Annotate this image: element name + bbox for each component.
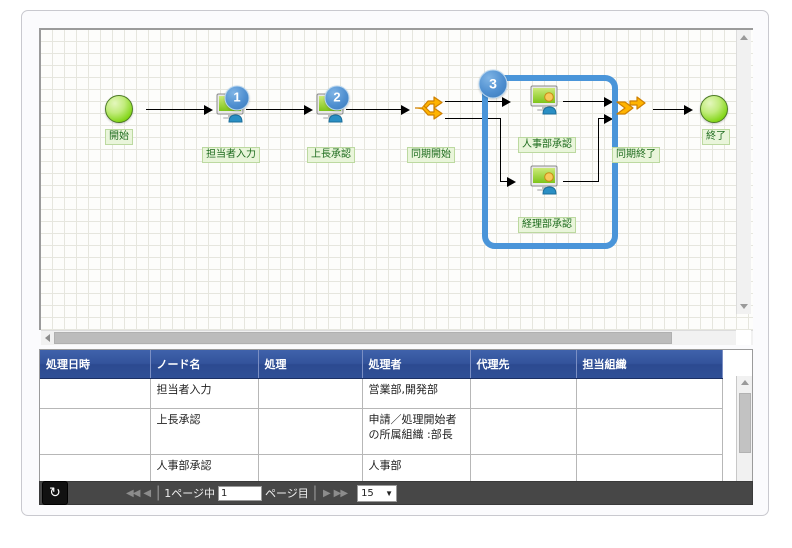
col-header-action[interactable]: 処理	[258, 350, 362, 379]
col-header-datetime[interactable]: 処理日時	[40, 350, 150, 379]
scroll-down-arrow-icon[interactable]	[740, 304, 748, 309]
cell-delegate	[470, 455, 576, 485]
arrowhead-fork	[401, 105, 410, 115]
node-start-label: 開始	[105, 129, 133, 145]
col-header-handler[interactable]: 処理者	[362, 350, 470, 379]
cell-node-name: 上長承認	[150, 409, 258, 455]
connector-start-to-step1	[146, 109, 204, 110]
table-header-row: 処理日時 ノード名 処理 処理者 代理先 担当組織	[40, 350, 722, 379]
node-sync-start-icon[interactable]	[413, 94, 445, 122]
connector-step2-to-fork	[346, 109, 401, 110]
pager-divider-right: |	[313, 484, 317, 502]
workflow-diagram-viewport[interactable]: 開始 1 担当者入力	[39, 28, 753, 330]
pager-divider-left: |	[156, 484, 160, 502]
cell-node-name: 人事部承認	[150, 455, 258, 485]
history-table: 処理日時 ノード名 処理 処理者 代理先 担当組織 担当者入力 営業部,開発部	[40, 350, 723, 485]
cell-org	[576, 455, 722, 485]
table-row[interactable]: 上長承認 申請／処理開始者の所属組織 :部長	[40, 409, 722, 455]
cell-handler: 営業部,開発部	[362, 379, 470, 409]
node-jinjibu-label: 人事部承認	[518, 137, 576, 153]
node-jouchou-badge: 2	[325, 86, 350, 111]
chevron-down-icon: ▼	[385, 489, 393, 498]
node-tantousha-badge: 1	[225, 86, 250, 111]
arrowhead-step1	[204, 105, 213, 115]
node-sync-end-icon[interactable]	[615, 94, 647, 122]
prev-page-icon[interactable]: ◀	[143, 488, 150, 499]
pager-suffix-text: ページ目	[265, 485, 309, 501]
cell-action	[258, 455, 362, 485]
sync-group-badge: 3	[479, 70, 508, 99]
cell-handler: 申請／処理開始者の所属組織 :部長	[362, 409, 470, 455]
cell-action	[258, 379, 362, 409]
arrowhead-step2	[304, 105, 313, 115]
page-number-input[interactable]	[218, 486, 262, 501]
pagination-toolbar: ↻ ◀◀ ◀ | 1 ページ中 ページ目 | ▶ ▶▶ 15 ▼	[39, 481, 753, 505]
refresh-icon[interactable]: ↻	[42, 481, 68, 505]
next-page-icon[interactable]: ▶	[323, 488, 330, 499]
node-end-icon[interactable]	[700, 95, 728, 123]
cell-delegate	[470, 379, 576, 409]
cell-datetime	[40, 379, 150, 409]
node-tantousha-label: 担当者入力	[202, 147, 260, 163]
cell-action	[258, 409, 362, 455]
col-header-node-name[interactable]: ノード名	[150, 350, 258, 379]
cell-handler: 人事部	[362, 455, 470, 485]
pager-middle-text: ページ中	[171, 485, 215, 501]
cell-datetime	[40, 455, 150, 485]
horizontal-scroll-thumb[interactable]	[54, 332, 672, 344]
diagram-canvas[interactable]: 開始 1 担当者入力	[41, 30, 753, 330]
node-keiribu-icon[interactable]	[528, 165, 562, 195]
table-scroll-thumb[interactable]	[739, 393, 751, 453]
diagram-horizontal-scrollbar[interactable]	[41, 330, 753, 345]
col-header-org[interactable]: 担当組織	[576, 350, 722, 379]
node-sync-start-label: 同期開始	[407, 147, 455, 163]
scrollbar-corner	[736, 330, 751, 345]
first-page-icon[interactable]: ◀◀	[126, 488, 139, 499]
node-jinjibu-icon[interactable]	[528, 85, 562, 115]
node-end-label: 終了	[702, 129, 730, 145]
arrowhead-end	[684, 105, 693, 115]
table-scroll-up-arrow-icon[interactable]	[741, 380, 749, 385]
cell-datetime	[40, 409, 150, 455]
node-start-icon[interactable]	[105, 95, 133, 123]
rows-per-page-value: 15	[361, 488, 374, 499]
col-header-delegate[interactable]: 代理先	[470, 350, 576, 379]
table-row[interactable]: 担当者入力 営業部,開発部	[40, 379, 722, 409]
scroll-up-arrow-icon[interactable]	[740, 35, 748, 40]
cell-node-name: 担当者入力	[150, 379, 258, 409]
rows-per-page-select[interactable]: 15 ▼	[357, 485, 397, 502]
cell-delegate	[470, 409, 576, 455]
scroll-left-arrow-icon[interactable]	[45, 334, 50, 342]
cell-org	[576, 379, 722, 409]
cell-org	[576, 409, 722, 455]
diagram-vertical-scrollbar[interactable]	[736, 30, 751, 314]
node-keiribu-label: 経理部承認	[518, 217, 576, 233]
table-row[interactable]: 人事部承認 人事部	[40, 455, 722, 485]
main-panel: 開始 1 担当者入力	[21, 10, 769, 516]
total-pages-value: 1	[164, 487, 171, 500]
connector-step1-to-step2	[246, 109, 304, 110]
node-sync-end-label: 同期終了	[612, 147, 660, 163]
last-page-icon[interactable]: ▶▶	[334, 488, 347, 499]
node-jouchou-label: 上長承認	[307, 147, 355, 163]
